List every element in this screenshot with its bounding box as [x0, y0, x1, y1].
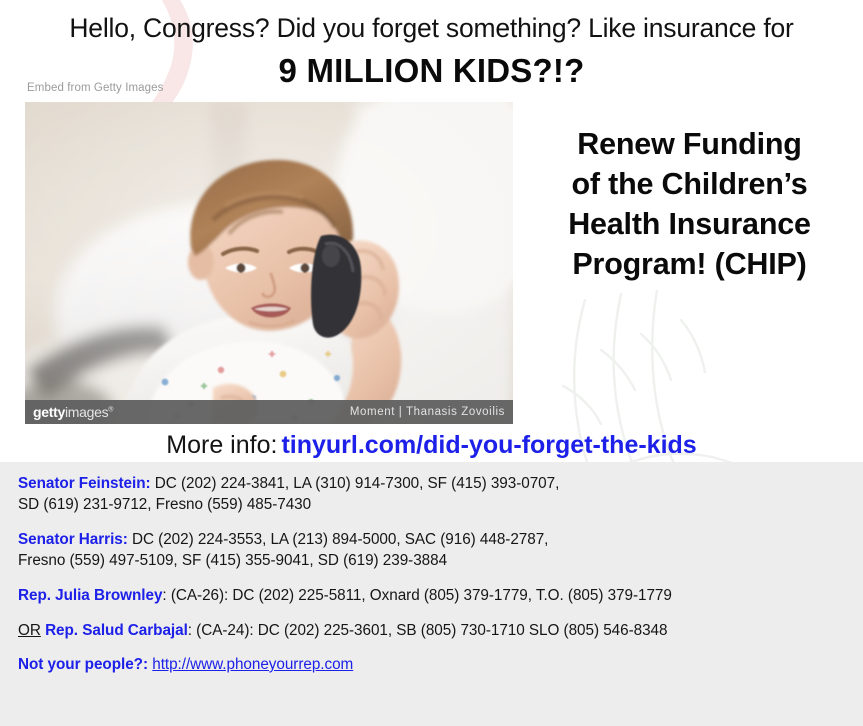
contact-row: Senator Harris: DC (202) 224-3553, LA (2…: [18, 530, 863, 571]
getty-photo-credit: Moment | Thanasis Zovoilis: [350, 406, 505, 418]
contact-name-carbajal: Rep. Salud Carbajal: [45, 622, 188, 639]
or-prefix: OR: [18, 622, 41, 639]
contact-name-brownley: Rep. Julia Brownley: [18, 587, 162, 604]
contact-name-harris: Senator Harris:: [18, 531, 128, 548]
more-info-line: More info:tinyurl.com/did-you-forget-the…: [0, 429, 863, 461]
more-info-label: More info:: [166, 431, 277, 459]
chip-advocacy-poster: Hello, Congress? Did you forget somethin…: [0, 0, 863, 726]
getty-photo-embed[interactable]: gettyimages® Moment | Thanasis Zovoilis: [25, 102, 513, 424]
call-to-action-headline: Renew Funding of the Children’s Health I…: [516, 124, 863, 284]
main-headline: Hello, Congress? Did you forget somethin…: [0, 0, 863, 92]
getty-logo-bold: getty: [33, 404, 65, 420]
cta-line-1: Renew Funding: [516, 124, 863, 164]
phoneyourrep-link[interactable]: http://www.phoneyourrep.com: [152, 656, 353, 673]
contact-numbers-line-1: DC (202) 224-3841, LA (310) 914-7300, SF…: [151, 475, 560, 492]
more-info-url[interactable]: tinyurl.com/did-you-forget-the-kids: [281, 431, 696, 459]
contact-row: Senator Feinstein: DC (202) 224-3841, LA…: [18, 474, 863, 515]
contact-numbers-line-1: DC (202) 224-3553, LA (213) 894-5000, SA…: [128, 531, 549, 548]
contact-numbers-line-1: (CA-26): DC (202) 225-5811, Oxnard (805)…: [167, 587, 672, 604]
getty-images-logo: gettyimages®: [33, 404, 113, 420]
headline-line-1: Hello, Congress? Did you forget somethin…: [0, 0, 863, 47]
cta-line-4: Program! (CHIP): [516, 244, 863, 284]
contacts-band: Senator Feinstein: DC (202) 224-3841, LA…: [0, 462, 863, 726]
footer-row: Not your people?: http://www.phoneyourre…: [18, 655, 863, 676]
cta-line-3: Health Insurance: [516, 204, 863, 244]
contact-name-feinstein: Senator Feinstein:: [18, 475, 151, 492]
contact-numbers-line-1: (CA-24): DC (202) 225-3601, SB (805) 730…: [192, 622, 667, 639]
getty-attribution-bar: gettyimages® Moment | Thanasis Zovoilis: [25, 400, 513, 424]
not-your-people-label: Not your people?:: [18, 656, 148, 673]
contact-numbers-line-2: Fresno (559) 497-5109, SF (415) 355-9041…: [18, 552, 447, 569]
child-on-phone-photo: [25, 102, 513, 424]
cta-line-2: of the Children’s: [516, 164, 863, 204]
contacts-list: Senator Feinstein: DC (202) 224-3841, LA…: [0, 462, 863, 676]
contact-numbers-line-2: SD (619) 231-9712, Fresno (559) 485-7430: [18, 496, 311, 513]
getty-logo-light: images: [65, 404, 108, 420]
getty-logo-trademark: ®: [108, 406, 113, 413]
embed-from-getty-images-label: Embed from Getty Images: [27, 82, 164, 94]
contact-row: OR Rep. Salud Carbajal: (CA-24): DC (202…: [18, 621, 863, 642]
contact-row: Rep. Julia Brownley: (CA-26): DC (202) 2…: [18, 586, 863, 607]
